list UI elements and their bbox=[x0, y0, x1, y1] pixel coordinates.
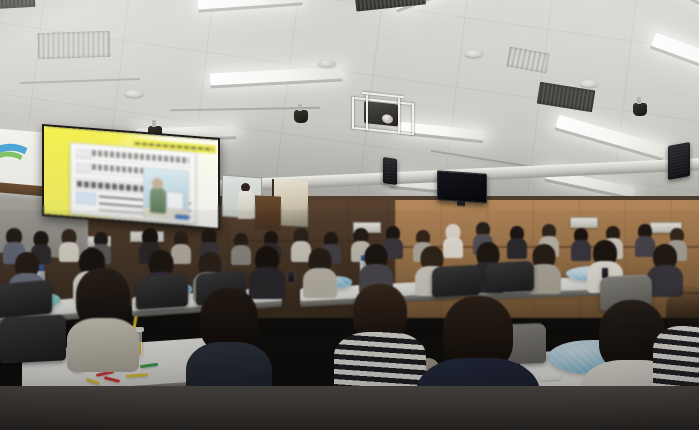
attendee-body bbox=[507, 238, 527, 259]
presenter bbox=[238, 183, 253, 219]
podium bbox=[255, 195, 281, 230]
attendee-body bbox=[443, 237, 463, 258]
attendee bbox=[530, 244, 558, 288]
attendee bbox=[306, 248, 334, 292]
attendee-body bbox=[334, 332, 426, 394]
projector-body bbox=[364, 101, 398, 127]
ceiling-projector-cage bbox=[352, 89, 414, 142]
wall-sign bbox=[570, 217, 598, 228]
smartphone[interactable] bbox=[288, 272, 294, 282]
projection-screen bbox=[42, 124, 220, 230]
attendee bbox=[252, 246, 282, 292]
conference-chair[interactable] bbox=[432, 265, 480, 298]
attendee bbox=[444, 224, 462, 252]
attendee bbox=[196, 288, 262, 398]
wall-mounted-monitor bbox=[437, 170, 487, 203]
conference-chair[interactable] bbox=[486, 261, 534, 294]
wall-speaker bbox=[668, 142, 690, 180]
attendee-striped-shirt bbox=[344, 284, 416, 394]
attendee bbox=[660, 286, 699, 386]
conference-chair[interactable] bbox=[0, 314, 66, 363]
projector-lens bbox=[382, 114, 393, 124]
conference-chair[interactable] bbox=[136, 274, 188, 310]
attendee-body bbox=[653, 326, 699, 388]
ceiling-camera bbox=[633, 103, 647, 116]
handout-sheet bbox=[540, 373, 560, 380]
ceiling-camera bbox=[294, 110, 308, 123]
presenter-body bbox=[238, 191, 253, 219]
screen-glare bbox=[44, 126, 218, 228]
attendee bbox=[508, 226, 526, 254]
projection-screen-surface bbox=[44, 126, 218, 228]
floor bbox=[0, 386, 699, 430]
attendee-body bbox=[231, 245, 251, 265]
attendee bbox=[362, 244, 390, 288]
attendee bbox=[572, 228, 590, 256]
conference-chair[interactable] bbox=[0, 280, 52, 319]
attendee-body bbox=[571, 240, 591, 261]
attendee bbox=[72, 268, 134, 358]
attendee-body bbox=[303, 268, 337, 298]
lecture-hall-photograph: 20 bbox=[0, 0, 699, 430]
attendee bbox=[232, 233, 250, 260]
attendee-body bbox=[67, 318, 139, 372]
wall-speaker bbox=[383, 157, 397, 185]
attendee bbox=[650, 244, 680, 290]
